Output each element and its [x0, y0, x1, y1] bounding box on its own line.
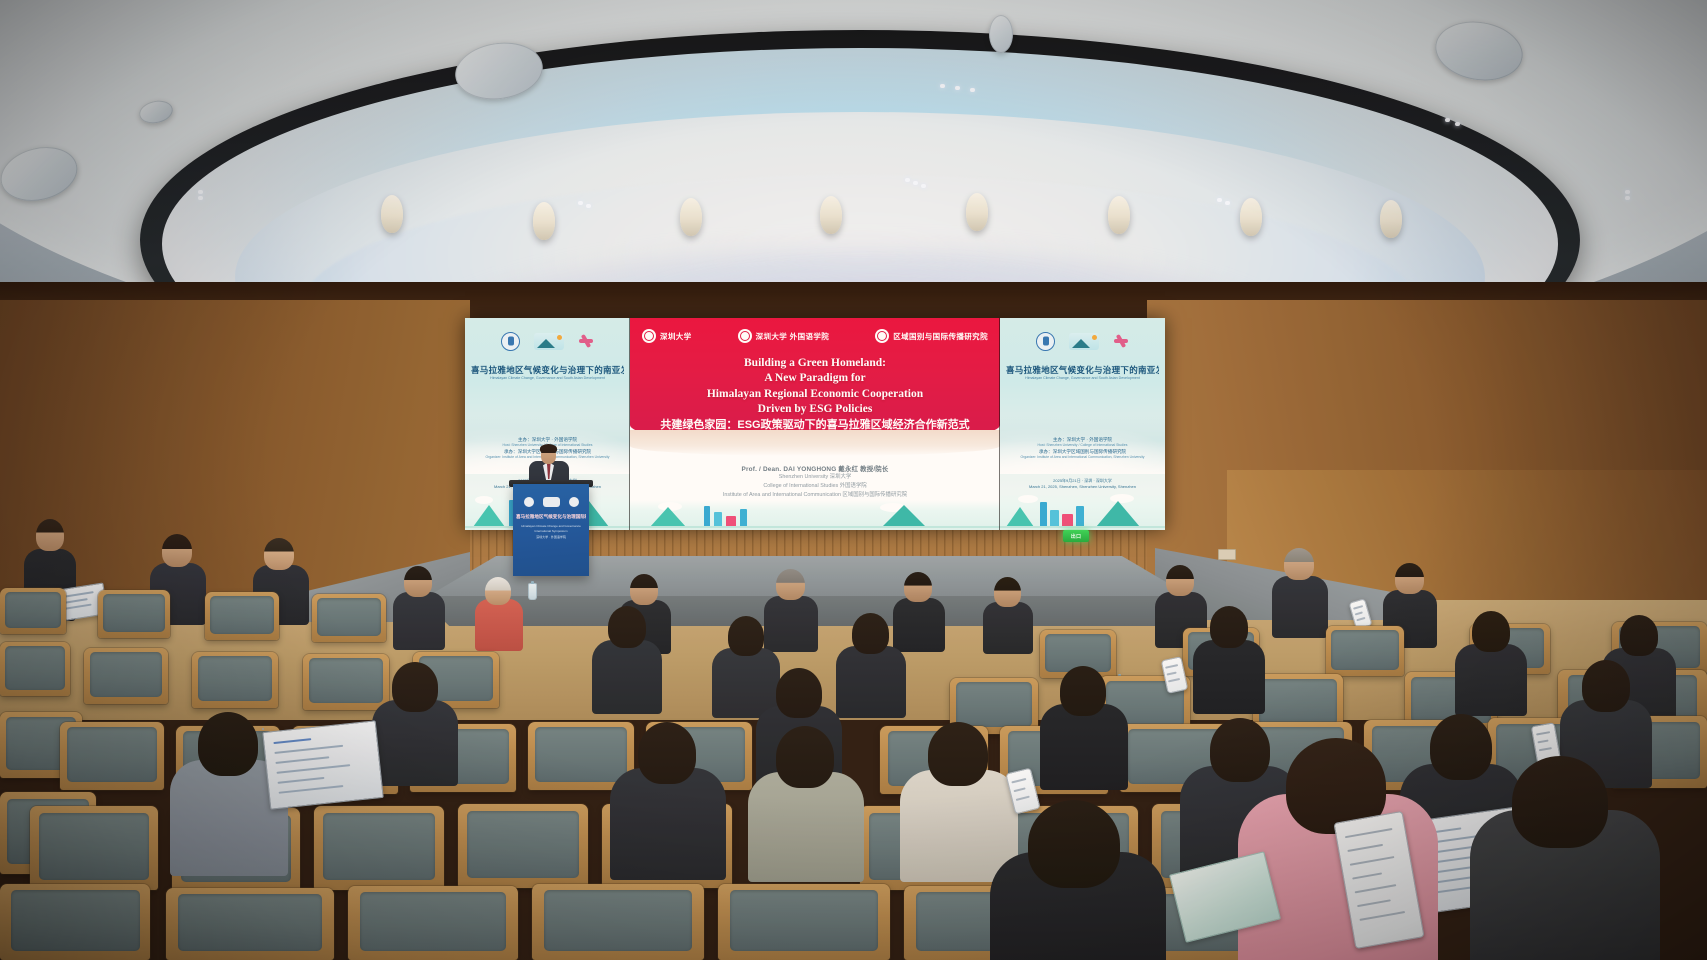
audience-head	[1395, 563, 1424, 594]
water-bottle	[528, 583, 537, 600]
wall-outlet-plate	[1218, 549, 1236, 560]
shenzhen-university-logo: 深圳大学	[642, 329, 692, 343]
shenzhen-university-logo-icon	[501, 332, 520, 351]
slide-title-line-3: Himalayan Regional Economic Cooperation	[640, 387, 990, 402]
audience-person	[1272, 576, 1328, 638]
audience-person	[1455, 644, 1527, 716]
audience-person	[983, 602, 1033, 654]
slide-title-line-2: A New Paradigm for	[640, 371, 990, 386]
auditorium-seat[interactable]	[166, 888, 334, 960]
college-international-studies-logo: 深圳大学 外国语学院	[738, 329, 830, 343]
auditorium-seat[interactable]	[192, 652, 278, 708]
lectern-logo-row	[513, 497, 589, 507]
audience-head	[36, 519, 64, 551]
screen-panel-center: 深圳大学 深圳大学 外国语学院 区域国别与国际传播研究院 Building a …	[630, 318, 1000, 530]
auditorium-scene: 喜马拉雅地区气候变化与治理下的南亚发展 Himalayan Climate Ch…	[0, 0, 1707, 960]
side-panel-cityscape	[1000, 492, 1165, 530]
audience-person	[900, 770, 1018, 882]
speaker-name: Prof. / Dean. DAI YONGHONG 戴永红 教授/院长	[638, 464, 992, 473]
institute-wordmark: 区域国别与国际传播研究院	[893, 331, 988, 342]
ceiling-led-strip	[921, 184, 926, 188]
ceiling-downlight	[1108, 196, 1130, 234]
ceiling-downlight	[680, 198, 702, 236]
star-emblem-icon	[1113, 333, 1129, 349]
star-emblem-icon	[578, 333, 594, 349]
audience-head	[638, 722, 696, 784]
audience-head	[1166, 565, 1194, 596]
audience-head	[485, 577, 511, 605]
slide-title-line-4: Driven by ESG Policies	[640, 402, 990, 417]
ceiling-led-strip	[1455, 122, 1460, 126]
lectern-logo-star-icon	[569, 497, 579, 507]
ceiling-led-strip	[586, 204, 591, 208]
ceiling-led-strip	[1445, 118, 1450, 122]
lectern-banner-title: 喜马拉雅地区气候变化与治理国际研讨会	[516, 514, 586, 520]
ceiling-led-strip	[1625, 190, 1630, 194]
ceiling-led-strip	[1625, 196, 1630, 200]
audience-head	[1620, 615, 1658, 656]
ceiling-led-strip	[1217, 198, 1222, 202]
audience-head	[392, 662, 438, 712]
audience-person	[610, 768, 726, 880]
auditorium-seat[interactable]	[0, 588, 66, 634]
ceiling-led-strip	[940, 84, 945, 88]
shenzhen-university-wordmark: 深圳大学	[660, 331, 692, 342]
ceiling-downlight	[533, 202, 555, 240]
side-panel-logo-row	[1000, 328, 1165, 354]
side-panel-title-en: Himalayan Climate Change, Governance and…	[471, 376, 624, 380]
ceiling-led-strip	[913, 181, 918, 185]
ceiling-downlight	[1240, 198, 1262, 236]
side-host-cn-2: 承办：深圳大学区域国别与国际传播研究院	[1004, 448, 1161, 455]
center-panel-logo-row: 深圳大学 深圳大学 外国语学院 区域国别与国际传播研究院	[630, 326, 1000, 346]
auditorium-seat[interactable]	[312, 594, 386, 642]
audience-head	[1210, 606, 1248, 648]
auditorium-seat[interactable]	[98, 590, 170, 638]
college-wordmark: 深圳大学 外国语学院	[756, 331, 830, 342]
auditorium-seat[interactable]	[0, 884, 150, 960]
ceiling-downlight	[381, 195, 403, 233]
audience-head	[264, 538, 294, 570]
ceiling-led-strip	[970, 88, 975, 92]
audience-head	[404, 566, 432, 597]
audience-head	[1512, 756, 1608, 848]
side-panel-title-cn: 喜马拉雅地区气候变化与治理下的南亚发展	[471, 364, 624, 376]
screen-panel-right: 喜马拉雅地区气候变化与治理下的南亚发展 Himalayan Climate Ch…	[1000, 318, 1165, 530]
ceiling-led-strip	[198, 190, 203, 194]
institute-seal-icon	[875, 329, 889, 343]
audience-person	[475, 599, 523, 651]
lectern-banner-lines: Himalayan Climate Change and Governance …	[517, 524, 585, 540]
emergency-exit-sign: 出口	[1063, 530, 1089, 542]
audience-person	[393, 592, 445, 650]
slide-title-chinese: 共建绿色家园：ESG政策驱动下的喜马拉雅区域经济合作新范式	[640, 418, 990, 434]
auditorium-seat[interactable]	[0, 642, 70, 696]
ceiling-led-strip	[905, 178, 910, 182]
auditorium-seat[interactable]	[303, 654, 389, 710]
mountain-emblem-icon	[1069, 333, 1099, 350]
auditorium-seat[interactable]	[84, 648, 168, 704]
college-seal-icon	[738, 329, 752, 343]
audience-head	[630, 574, 658, 605]
audience-person	[372, 700, 458, 786]
auditorium-seat[interactable]	[30, 806, 158, 890]
mountain-emblem-icon	[534, 333, 564, 350]
auditorium-seat[interactable]	[458, 804, 588, 888]
auditorium-seat[interactable]	[1326, 626, 1404, 676]
ceiling-downlight	[1380, 200, 1402, 238]
speaker-affiliation-2: College of International Studies 外国语学院	[638, 482, 992, 491]
audience-head	[928, 722, 988, 786]
audience-head	[852, 613, 889, 654]
audience-head	[1284, 548, 1314, 580]
shenzhen-university-logo-icon	[1036, 332, 1055, 351]
side-host-cn-1: 主办：深圳大学 · 外国语学院	[469, 436, 626, 443]
audience-head	[1028, 800, 1120, 888]
auditorium-seat[interactable]	[718, 884, 890, 960]
side-panel-host-block: 主办：深圳大学 · 外国语学院 Host: Shenzhen Universit…	[1004, 436, 1161, 461]
audience-person	[748, 772, 864, 882]
auditorium-seat[interactable]	[348, 886, 518, 960]
university-seal-icon	[642, 329, 656, 343]
laptop	[262, 728, 264, 730]
audience-person	[592, 640, 662, 714]
audience-person	[764, 596, 818, 652]
side-footer-en: March 21, 2025, Shenzhen, Shenzhen Unive…	[1004, 484, 1161, 490]
ceiling-led-strip	[578, 201, 583, 205]
audience-head	[994, 577, 1021, 607]
auditorium-seat[interactable]	[60, 722, 164, 790]
auditorium-ceiling	[0, 0, 1707, 330]
ceiling-led-strip	[198, 196, 203, 200]
audience-head	[608, 606, 646, 648]
lectern-banner-line-3: 深圳大学 · 外国语学院	[517, 535, 585, 540]
ceiling-led-strip	[955, 86, 960, 90]
ceiling-downlight	[966, 193, 988, 231]
ceiling-downlight	[820, 196, 842, 234]
side-host-en-2: Organizer: Institute of Area and Interna…	[1004, 455, 1161, 460]
institute-area-international-communication-logo: 区域国别与国际传播研究院	[875, 329, 988, 343]
auditorium-seat[interactable]	[314, 806, 444, 890]
lectern-logo-seal-icon	[524, 497, 534, 507]
lectern-logo-mountain-icon	[543, 497, 560, 507]
side-panel-title-cn: 喜马拉雅地区气候变化与治理下的南亚发展	[1006, 364, 1159, 376]
audience-person	[1040, 704, 1128, 790]
presenter-hair	[540, 444, 557, 453]
audience-head	[198, 712, 258, 776]
slide-speaker-block: Prof. / Dean. DAI YONGHONG 戴永红 教授/院长 She…	[638, 464, 992, 501]
audience-head	[776, 726, 834, 788]
ceiling-led-strip	[1225, 201, 1230, 205]
audience-head	[1430, 714, 1492, 780]
audience-head	[162, 534, 192, 567]
audience-head	[1210, 718, 1270, 782]
audience-head	[1582, 660, 1630, 712]
audience-head	[776, 668, 822, 718]
audience-person	[1193, 640, 1265, 714]
audience-head	[1472, 611, 1510, 652]
slide-title-line-1: Building a Green Homeland:	[640, 356, 990, 371]
audience-head	[776, 569, 805, 600]
audience-person	[893, 598, 945, 652]
center-panel-cityscape	[630, 500, 1000, 530]
auditorium-seat[interactable]	[532, 884, 704, 960]
slide-title-block: Building a Green Homeland: A New Paradig…	[640, 356, 990, 434]
audience-head	[904, 572, 932, 602]
side-panel-footer-block: 2025年9月21日 · 深圳 · 深圳大学 March 21, 2025, S…	[1004, 478, 1161, 491]
lectern: 喜马拉雅地区气候变化与治理国际研讨会 Himalayan Climate Cha…	[513, 484, 589, 576]
side-panel-title-en: Himalayan Climate Change, Governance and…	[1006, 376, 1159, 380]
side-panel-logo-row	[465, 328, 630, 354]
speaker-affiliation-1: Shenzhen University 深圳大学	[638, 473, 992, 482]
exit-sign-text: 出口	[1071, 533, 1082, 540]
auditorium-seat[interactable]	[205, 592, 279, 640]
laptop	[262, 720, 384, 809]
side-host-cn-1: 主办：深圳大学 · 外国语学院	[1004, 436, 1161, 443]
audience-head	[1060, 666, 1106, 716]
ceiling-speaker-oval	[989, 15, 1013, 53]
audience-head	[728, 616, 764, 656]
audience-person	[836, 646, 906, 718]
